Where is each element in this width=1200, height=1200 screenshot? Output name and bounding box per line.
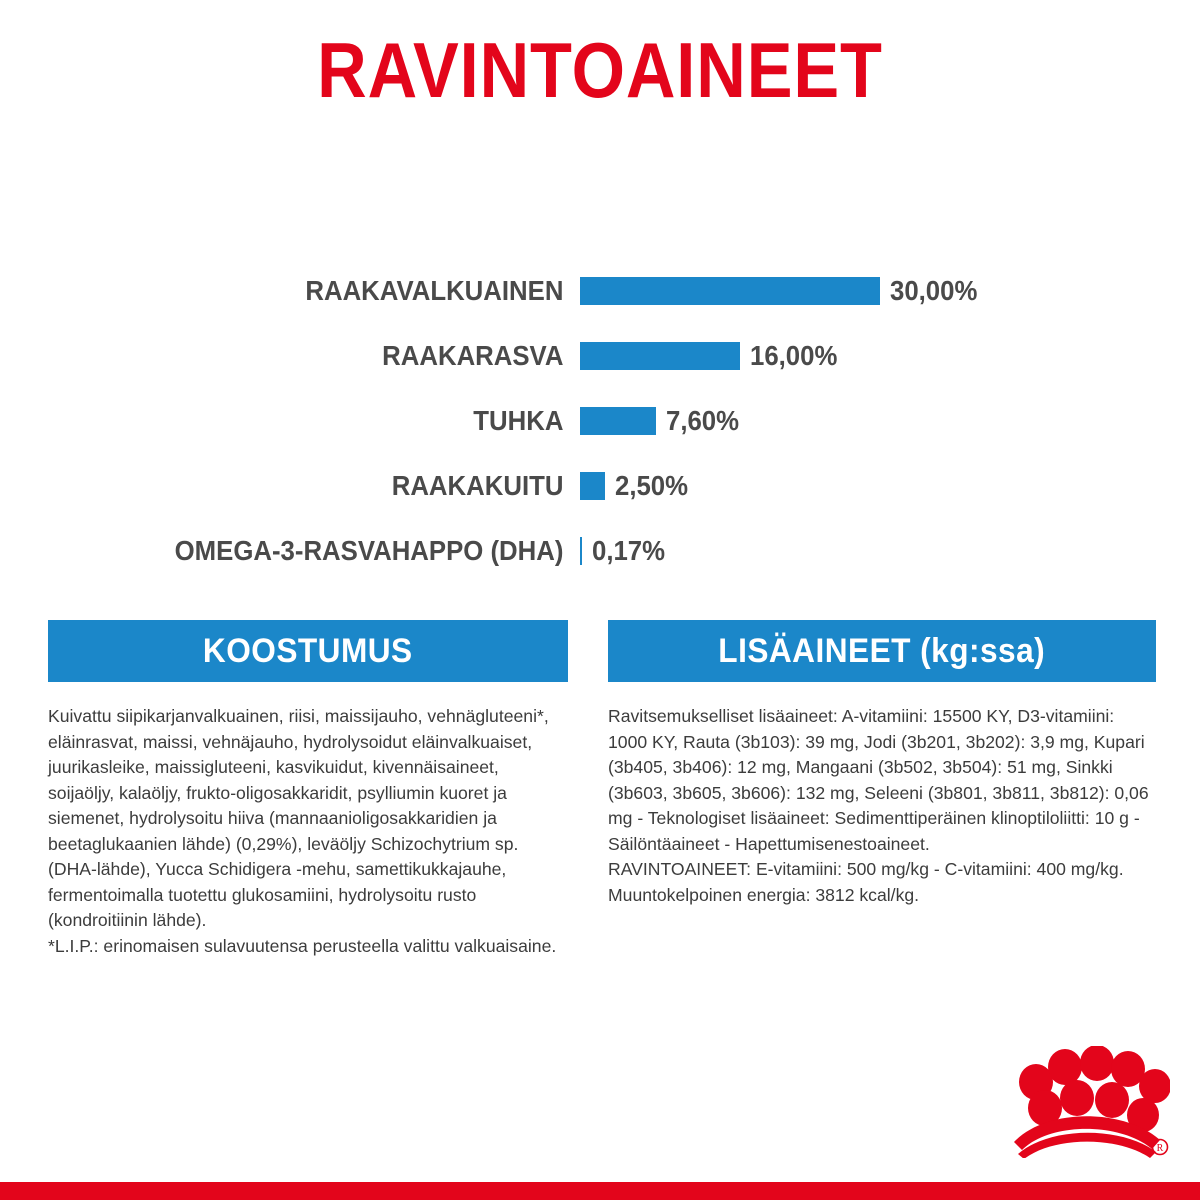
bottom-red-band [0, 1182, 1200, 1200]
info-panels: KOOSTUMUS Kuivattu siipikarjanvalkuainen… [0, 620, 1200, 1040]
chart-row: TUHKA7,60% [0, 388, 1200, 453]
additives-panel-header: LISÄAINEET (kg:ssa) [608, 620, 1156, 682]
svg-text:R: R [1157, 1143, 1164, 1154]
chart-row-label: TUHKA [46, 406, 580, 436]
chart-value-label: 7,60% [666, 406, 739, 436]
chart-row-label: RAAKAKUITU [46, 471, 580, 501]
registered-trademark-icon: R [1153, 1140, 1168, 1155]
chart-bar-wrap: 2,50% [580, 471, 1200, 501]
composition-panel: KOOSTUMUS Kuivattu siipikarjanvalkuainen… [48, 620, 568, 959]
chart-bar-wrap: 7,60% [580, 406, 1200, 436]
chart-row: OMEGA-3-RASVAHAPPO (DHA)0,17% [0, 518, 1200, 583]
additives-panel-body: Ravitsemukselliset lisäaineet: A-vitamii… [608, 704, 1156, 908]
chart-value-label: 0,17% [592, 536, 665, 566]
additives-text: Ravitsemukselliset lisäaineet: A-vitamii… [608, 704, 1156, 857]
chart-row: RAAKAVALKUAINEN30,00% [0, 258, 1200, 323]
chart-bar [580, 342, 740, 370]
chart-bar-wrap: 30,00% [580, 276, 1200, 306]
chart-bar-wrap: 16,00% [580, 341, 1200, 371]
additives-panel: LISÄAINEET (kg:ssa) Ravitsemukselliset l… [608, 620, 1156, 908]
chart-row: RAAKAKUITU2,50% [0, 453, 1200, 518]
nutrient-bar-chart: RAAKAVALKUAINEN30,00%RAAKARASVA16,00%TUH… [0, 258, 1200, 583]
chart-bar-wrap: 0,17% [580, 536, 1200, 566]
chart-row-label: RAAKAVALKUAINEN [46, 276, 580, 306]
chart-row: RAAKARASVA16,00% [0, 323, 1200, 388]
composition-panel-body: Kuivattu siipikarjanvalkuainen, riisi, m… [48, 704, 568, 959]
composition-footnote: *L.I.P.: erinomaisen sulavuutensa perust… [48, 934, 568, 960]
chart-bar [580, 537, 582, 565]
additives-panel-header-label: LISÄAINEET (kg:ssa) [719, 632, 1046, 670]
royal-canin-crown-icon: R [1000, 1046, 1170, 1158]
chart-value-label: 30,00% [890, 276, 977, 306]
composition-panel-header: KOOSTUMUS [48, 620, 568, 682]
composition-text: Kuivattu siipikarjanvalkuainen, riisi, m… [48, 704, 568, 934]
chart-bar [580, 407, 656, 435]
chart-bar [580, 472, 605, 500]
composition-panel-header-label: KOOSTUMUS [203, 632, 413, 670]
nutrition-infographic: RAVINTOAINEET RAAKAVALKUAINEN30,00%RAAKA… [0, 0, 1200, 1200]
chart-bar [580, 277, 880, 305]
chart-value-label: 2,50% [615, 471, 688, 501]
chart-row-label: RAAKARASVA [46, 341, 580, 371]
chart-value-label: 16,00% [750, 341, 837, 371]
additives-nutrients-text: RAVINTOAINEET: E-vitamiini: 500 mg/kg - … [608, 857, 1156, 908]
chart-row-label: OMEGA-3-RASVAHAPPO (DHA) [46, 536, 580, 566]
page-title: RAVINTOAINEET [72, 26, 1128, 114]
